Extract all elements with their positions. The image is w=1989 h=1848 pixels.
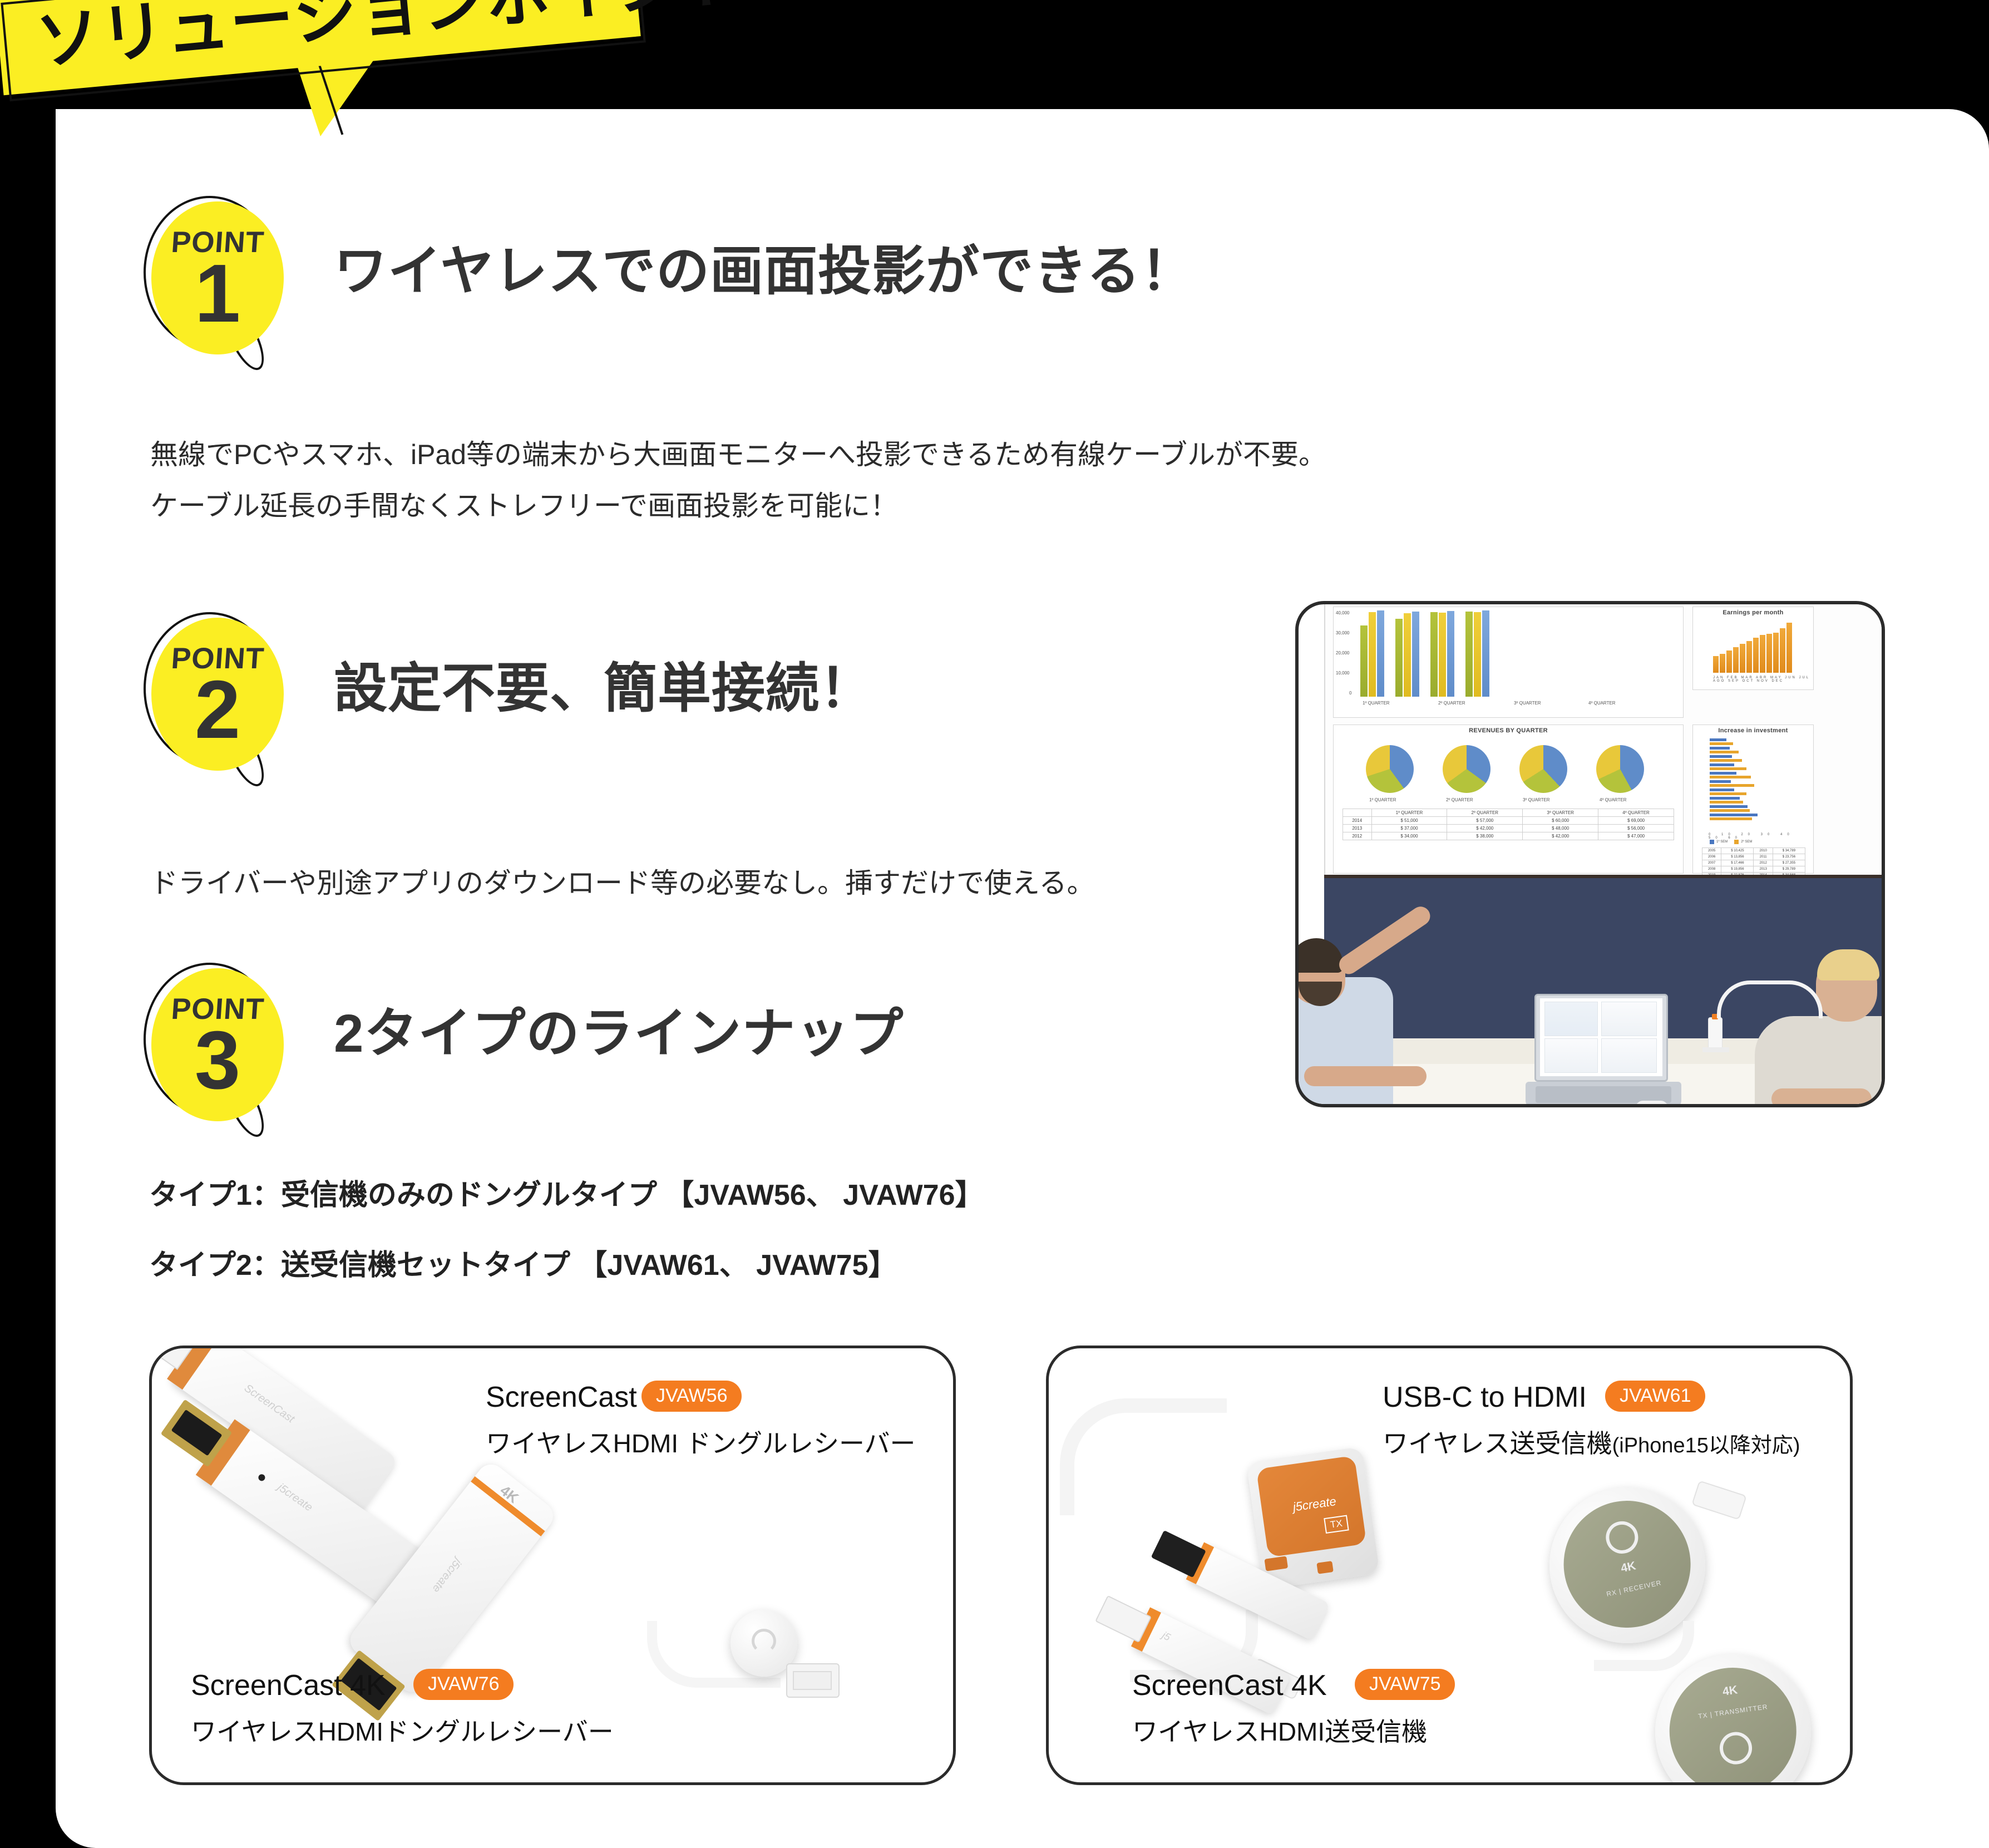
badge-word: POINT xyxy=(170,994,265,1024)
badge-number: 3 xyxy=(195,1026,240,1095)
chart-title-revenues: REVENUES BY QUARTER xyxy=(1334,725,1683,734)
person-presenter xyxy=(1295,938,1427,1107)
left-card-top-product-name: ScreenCast xyxy=(486,1383,637,1412)
investment-table: 2005$ 10,4252010$ 34,789 2006$ 13,856201… xyxy=(1702,847,1805,879)
point-body-1-line-1: 無線でPCやスマホ、iPad等の端末から大画面モニターへ投影できるため有線ケーブ… xyxy=(150,434,1326,476)
badge-disc: POINT 2 xyxy=(151,618,284,771)
puck-cable xyxy=(1594,1621,1694,1671)
left-card-top-product-desc: ワイヤレスHDMI ドングルレシーバー xyxy=(486,1431,915,1456)
left-card-bottom-product-desc: ワイヤレスHDMIドングルレシーバー xyxy=(191,1719,614,1744)
type-line-2: タイプ2：送受信機セットタイプ 【JVAW61、 JVAW75】 xyxy=(149,1251,897,1280)
presentation-display: 40,000 30,000 20,000 10,000 0 1º QUARTER… xyxy=(1324,601,1885,878)
point-body-2-line-1: ドライバーや別途アプリのダウンロード等の必要なし。挿すだけで使える。 xyxy=(150,863,1095,904)
point-badge-2: POINT 2 xyxy=(144,612,284,771)
badge-disc: POINT 1 xyxy=(151,201,284,354)
badge-word: POINT xyxy=(170,228,265,257)
point-body-1-line-2: ケーブル延長の手間なくストレフリーで画面投影を可能に！ xyxy=(150,485,898,527)
product-card-type1: ScreenCast j5create 4K j5create S xyxy=(149,1346,956,1785)
dongle-stand xyxy=(1702,1047,1729,1052)
left-card-top-sku-badge: JVAW56 xyxy=(641,1381,742,1412)
puck-usbc-plug xyxy=(1691,1480,1747,1520)
point-heading-1: ワイヤレスでの画面投影ができる！ xyxy=(334,245,1195,298)
badge-number: 2 xyxy=(195,676,240,745)
chart-title-investment: Increase in investment xyxy=(1693,725,1813,734)
dongle-cable xyxy=(1717,980,1823,1018)
right-card-top-desc-main: ワイヤレス送受信機 xyxy=(1383,1429,1612,1458)
laptop xyxy=(1526,994,1681,1107)
right-card-bottom-product-desc: ワイヤレスHDMI送受信機 xyxy=(1132,1719,1427,1744)
badge-disc: POINT 3 xyxy=(151,968,284,1121)
right-card-bottom-product-name: ScreenCast 4K xyxy=(1132,1671,1327,1700)
chart-title-earnings: Earnings per month xyxy=(1693,607,1813,616)
usb-puck-button xyxy=(1643,1104,1659,1107)
badge-number: 1 xyxy=(195,259,240,328)
chart-revenues-by-quarter: REVENUES BY QUARTER 1º QUARTER 2º QUARTE… xyxy=(1333,725,1684,874)
chart-earnings-per-month: Earnings per month JAN FEB MAR ABR MAY J… xyxy=(1692,607,1814,690)
screencast-4k-dongle-illustration: 4K j5create xyxy=(379,1458,682,1750)
wireless-dongle xyxy=(1708,1017,1723,1049)
conference-room-photo: 40,000 30,000 20,000 10,000 0 1º QUARTER… xyxy=(1295,601,1885,1107)
type-line-1: タイプ1：受信機のみのドングルタイプ 【JVAW56、 JVAW76】 xyxy=(149,1181,984,1210)
revenues-table: 1º QUARTER2º QUARTER3º QUARTER4º QUARTER… xyxy=(1343,809,1674,840)
usb-puck xyxy=(1636,1101,1668,1107)
right-card-top-desc-note: (iPhone15以降対応) xyxy=(1612,1434,1800,1457)
screencast-4k-cable xyxy=(647,1615,831,1699)
badge-word: POINT xyxy=(170,644,265,673)
tx-transmitter-device: j5create TX xyxy=(1246,1447,1380,1590)
product-card-type2: j5create TX j5 4K RX | RECEIVER xyxy=(1046,1346,1853,1785)
point-heading-3: 2タイプのラインナップ xyxy=(334,1007,904,1061)
point-badge-1: POINT 1 xyxy=(144,196,284,354)
point-badge-3: POINT 3 xyxy=(144,963,284,1121)
right-card-bottom-sku-badge: JVAW75 xyxy=(1355,1669,1455,1700)
chart-increase-investment: Increase in investment xyxy=(1692,725,1814,874)
point-heading-2: 設定不要、簡単接続！ xyxy=(334,662,873,716)
left-card-bottom-sku-badge: JVAW76 xyxy=(413,1669,514,1700)
right-card-top-product-desc: ワイヤレス送受信機(iPhone15以降対応) xyxy=(1383,1431,1800,1456)
left-card-bottom-product-name: ScreenCast 4K xyxy=(191,1671,386,1700)
page-root: ソリューションポイント POINT 1 ワイヤレスでの画面投影ができる！ 無線で… xyxy=(0,0,1989,1848)
person-attendee xyxy=(1749,949,1885,1107)
right-card-top-product-name: USB-C to HDMI xyxy=(1383,1383,1587,1412)
right-card-top-sku-badge: JVAW61 xyxy=(1605,1381,1705,1412)
chart-bar-quarters: 40,000 30,000 20,000 10,000 0 1º QUARTER… xyxy=(1333,607,1684,718)
